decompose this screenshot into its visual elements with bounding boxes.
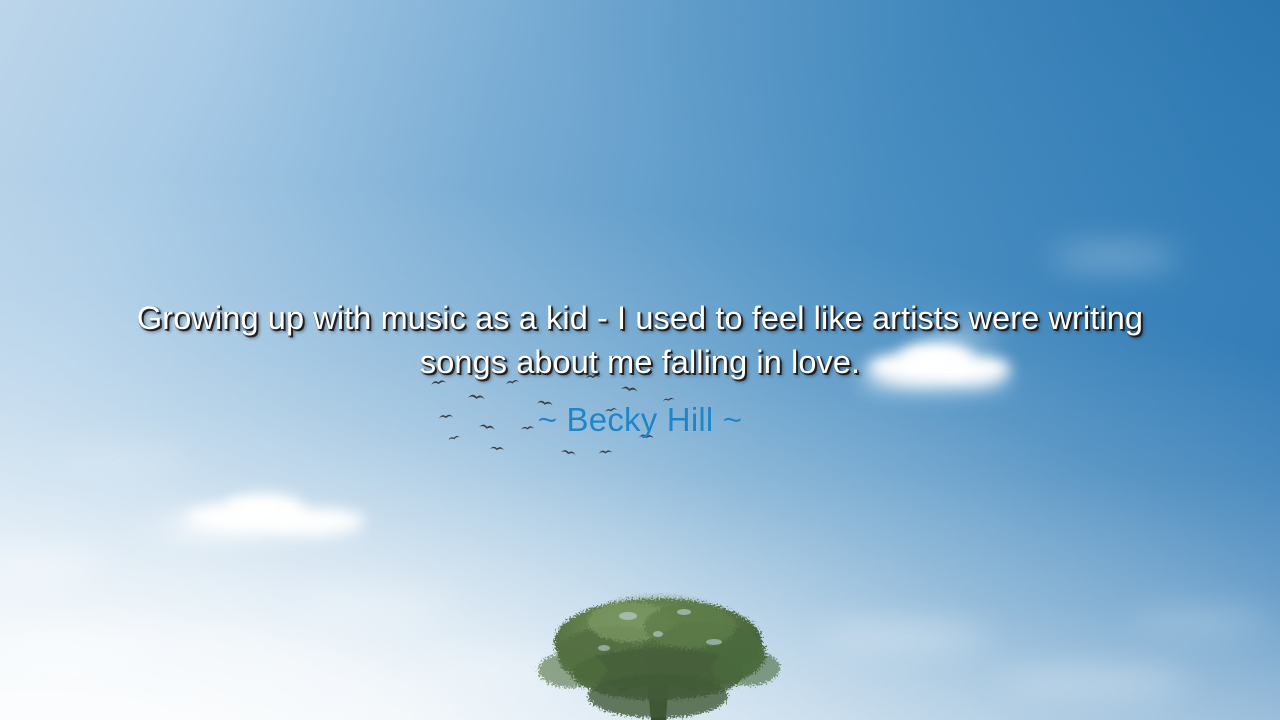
quote-image-scene: Growing up with music as a kid - I used … (0, 0, 1280, 720)
quote-block: Growing up with music as a kid - I used … (0, 296, 1280, 440)
bird-icon (489, 443, 506, 453)
bird-icon (598, 448, 613, 457)
lone-tree (508, 586, 808, 720)
quote-author: ~ Becky Hill ~ (0, 400, 1280, 440)
tree-crown (538, 594, 780, 718)
quote-text: Growing up with music as a kid - I used … (110, 296, 1170, 384)
